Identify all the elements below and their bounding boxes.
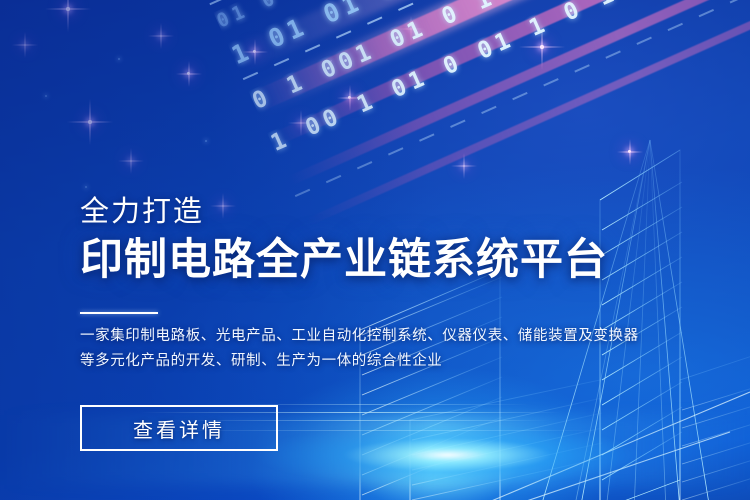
divider-rule: [80, 312, 158, 314]
description-line-1: 一家集印制电路板、光电产品、工业自动化控制系统、仪器仪表、储能装置及变换器: [80, 324, 640, 349]
description-block: 一家集印制电路板、光电产品、工业自动化控制系统、仪器仪表、储能装置及变换器 等多…: [80, 324, 640, 374]
hero-banner: 01 0 1 001 01 1 0 01 0 1 0 1 001 01 0 1 …: [0, 0, 750, 500]
page-title: 印制电路全产业链系统平台: [80, 237, 608, 283]
dust-particle: [45, 95, 47, 97]
description-line-2: 等多元化产品的开发、研制、生产为一体的综合性企业: [80, 349, 640, 374]
star-sparkle-icon: [66, 7, 70, 11]
kicker-text: 全力打造: [80, 198, 204, 227]
hero-content: 全力打造 印制电路全产业链系统平台 一家集印制电路板、光电产品、工业自动化控制系…: [80, 0, 700, 500]
star-sparkle-icon: [24, 44, 26, 46]
view-details-button[interactable]: 查看详情: [80, 405, 278, 451]
